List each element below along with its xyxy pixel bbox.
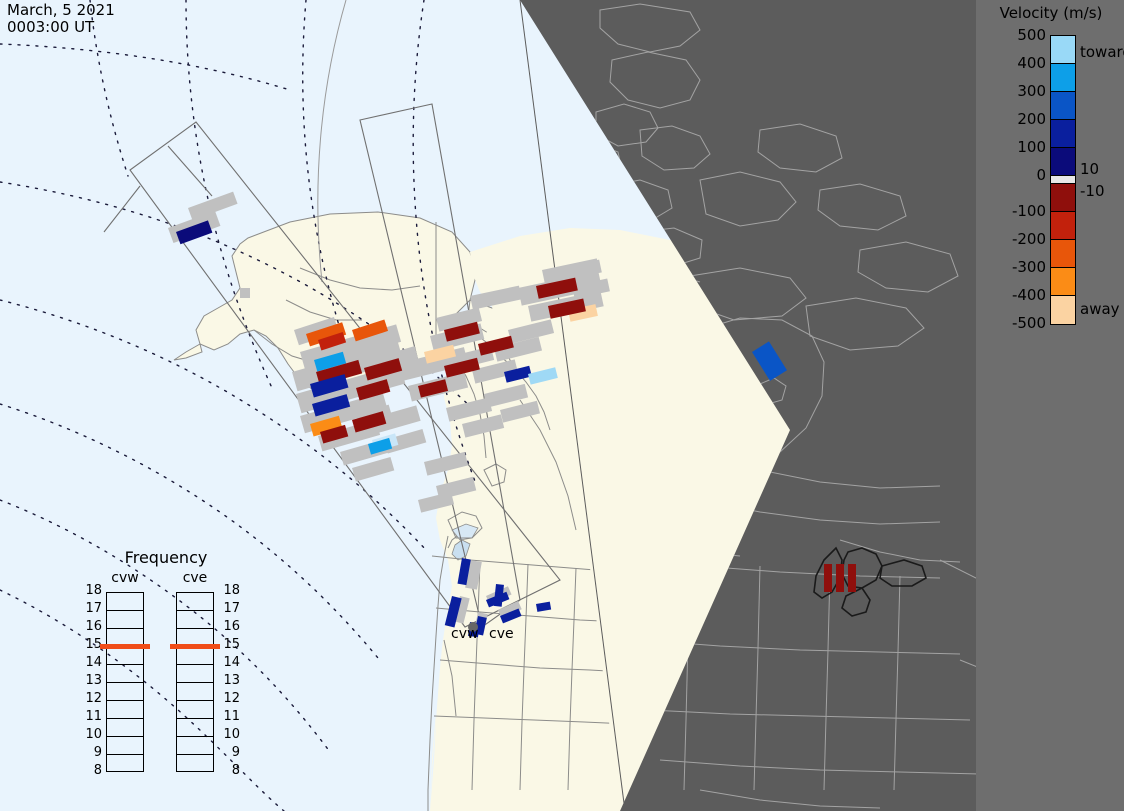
frequency-tick-right-12: 12 bbox=[216, 691, 240, 706]
frequency-legend-title: Frequency bbox=[86, 548, 246, 567]
colorbar-away-label: away bbox=[1080, 300, 1120, 318]
frequency-marker-cve bbox=[170, 644, 220, 649]
colorbar-segment-toward-3 bbox=[1051, 120, 1075, 148]
frequency-tick-right-14: 14 bbox=[216, 655, 240, 670]
frequency-segment bbox=[107, 719, 143, 737]
frequency-segment bbox=[177, 611, 213, 629]
colorbar-toward-label: toward bbox=[1080, 43, 1124, 61]
colorbar-tick-neg200: -200 bbox=[980, 230, 1046, 248]
frequency-tick-right-16: 16 bbox=[216, 619, 240, 634]
frequency-segment bbox=[107, 701, 143, 719]
frequency-tick-left-16: 16 bbox=[78, 619, 102, 634]
radar-map-screenshot: March, 5 2021 0003:00 UT cvw cve Frequen… bbox=[0, 0, 1124, 811]
frequency-segment bbox=[177, 665, 213, 683]
frequency-segment bbox=[107, 755, 143, 773]
frequency-tick-left-12: 12 bbox=[78, 691, 102, 706]
frequency-tick-right-11: 11 bbox=[216, 709, 240, 724]
frequency-segment bbox=[107, 647, 143, 665]
frequency-segment bbox=[177, 593, 213, 611]
colorbar-segment-toward-2 bbox=[1051, 92, 1075, 120]
colorbar-title: Velocity (m/s) bbox=[980, 4, 1122, 22]
frequency-segment bbox=[177, 647, 213, 665]
frequency-tick-right-13: 13 bbox=[216, 673, 240, 688]
frequency-segment bbox=[107, 683, 143, 701]
frequency-tick-left-11: 11 bbox=[78, 709, 102, 724]
frequency-tick-right-18: 18 bbox=[216, 583, 240, 598]
frequency-segment bbox=[177, 737, 213, 755]
frequency-segment bbox=[177, 683, 213, 701]
frequency-tick-left-10: 10 bbox=[78, 727, 102, 742]
map-canvas[interactable]: March, 5 2021 0003:00 UT cvw cve Frequen… bbox=[0, 0, 1124, 811]
frequency-bar-cve bbox=[176, 592, 214, 772]
frequency-column-label-cve: cve bbox=[170, 570, 220, 586]
colorbar-gradient[interactable] bbox=[1050, 35, 1076, 325]
colorbar-minus10-label: -10 bbox=[1080, 182, 1105, 200]
colorbar-segment-away-1 bbox=[1051, 212, 1075, 240]
frequency-bar-cvw bbox=[106, 592, 144, 772]
frequency-tick-left-15: 15 bbox=[78, 637, 102, 652]
colorbar-segment-away-3 bbox=[1051, 268, 1075, 296]
time-text: 0003:00 UT bbox=[7, 18, 94, 36]
colorbar-tick-500: 500 bbox=[980, 26, 1046, 44]
frequency-tick-right-9: 9 bbox=[216, 745, 240, 760]
frequency-marker-cvw bbox=[100, 644, 150, 649]
frequency-tick-right-10: 10 bbox=[216, 727, 240, 742]
frequency-tick-left-18: 18 bbox=[78, 583, 102, 598]
colorbar-tick-neg100: -100 bbox=[980, 202, 1046, 220]
frequency-tick-left-14: 14 bbox=[78, 655, 102, 670]
date-text: March, 5 2021 bbox=[7, 1, 115, 19]
frequency-column-label-cvw: cvw bbox=[100, 570, 150, 586]
datetime-stamp: March, 5 2021 0003:00 UT bbox=[7, 2, 115, 36]
colorbar-tick-neg500: -500 bbox=[980, 314, 1046, 332]
site-label-cve: cve bbox=[489, 626, 514, 642]
colorbar-tick-400: 400 bbox=[980, 54, 1046, 72]
colorbar-segment-toward-1 bbox=[1051, 64, 1075, 92]
colorbar-tick-100: 100 bbox=[980, 138, 1046, 156]
frequency-segment bbox=[107, 737, 143, 755]
frequency-tick-left-8: 8 bbox=[78, 763, 102, 778]
site-label-cvw: cvw bbox=[451, 626, 478, 642]
velocity-colorbar-panel: Velocity (m/s) 5004003002001000-100-200-… bbox=[976, 0, 1124, 811]
colorbar-segment-away-0 bbox=[1051, 184, 1075, 212]
colorbar-segment-zero bbox=[1051, 176, 1075, 184]
colorbar-tick-0: 0 bbox=[980, 166, 1046, 184]
frequency-segment bbox=[107, 593, 143, 611]
colorbar-segment-toward-0 bbox=[1051, 36, 1075, 64]
frequency-tick-right-17: 17 bbox=[216, 601, 240, 616]
frequency-tick-left-17: 17 bbox=[78, 601, 102, 616]
frequency-segment bbox=[177, 755, 213, 773]
frequency-legend: Frequency cvw cve 18171615141312111098 1… bbox=[86, 548, 246, 793]
colorbar-tick-200: 200 bbox=[980, 110, 1046, 128]
frequency-segment bbox=[107, 611, 143, 629]
frequency-segment bbox=[107, 665, 143, 683]
frequency-tick-left-9: 9 bbox=[78, 745, 102, 760]
frequency-tick-right-8: 8 bbox=[216, 763, 240, 778]
frequency-segment bbox=[177, 701, 213, 719]
frequency-tick-left-13: 13 bbox=[78, 673, 102, 688]
colorbar-segment-away-2 bbox=[1051, 240, 1075, 268]
colorbar-tick-neg400: -400 bbox=[980, 286, 1046, 304]
colorbar-plus10-label: 10 bbox=[1080, 160, 1099, 178]
colorbar-segment-away-4 bbox=[1051, 296, 1075, 324]
colorbar-tick-300: 300 bbox=[980, 82, 1046, 100]
colorbar-tick-neg300: -300 bbox=[980, 258, 1046, 276]
frequency-segment bbox=[177, 719, 213, 737]
colorbar-segment-toward-4 bbox=[1051, 148, 1075, 176]
